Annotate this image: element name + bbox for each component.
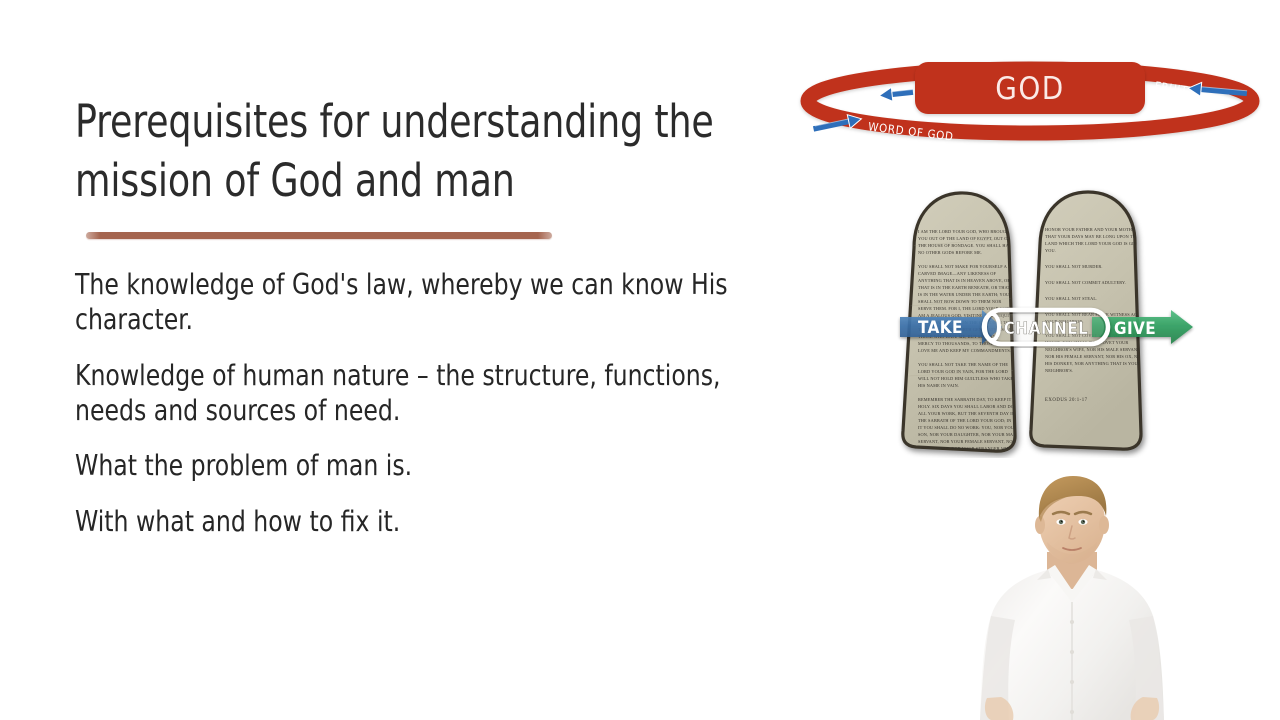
- god-cycle-diagram: GOD LOVE FRUIT WORD OF GOD: [795, 46, 1265, 156]
- svg-text:IS IN THE WATER UNDER THE EART: IS IN THE WATER UNDER THE EARTH; YOU: [918, 292, 1010, 297]
- svg-text:LAND WHICH THE LORD YOUR GOD I: LAND WHICH THE LORD YOUR GOD IS GIVING: [1045, 241, 1145, 246]
- shirt-button: [1070, 650, 1074, 654]
- svg-text:THAT YOUR DAYS MAY BE LONG UPO: THAT YOUR DAYS MAY BE LONG UPON THE: [1045, 234, 1139, 239]
- list-item: With what and how to fix it.: [75, 504, 774, 539]
- take-label: TAKE: [918, 318, 963, 338]
- slide-text-column: Prerequisites for understanding the miss…: [75, 92, 805, 211]
- svg-text:NO OTHER GODS BEFORE ME.: NO OTHER GODS BEFORE ME.: [918, 250, 982, 255]
- svg-text:YOU SHALL NOT TAKE THE NAME OF: YOU SHALL NOT TAKE THE NAME OF THE: [918, 362, 1008, 367]
- god-box-label: GOD: [995, 71, 1065, 107]
- svg-text:HIS NAME IN VAIN.: HIS NAME IN VAIN.: [918, 383, 959, 388]
- svg-text:YOU SHALL NOT COMMIT ADULTERY.: YOU SHALL NOT COMMIT ADULTERY.: [1045, 280, 1126, 285]
- tablet-citation: EXODUS 20:1-17: [1045, 398, 1088, 403]
- svg-text:THE SABBATH OF THE LORD YOUR G: THE SABBATH OF THE LORD YOUR GOD; IN: [918, 418, 1011, 423]
- list-item: What the problem of man is.: [75, 448, 774, 483]
- svg-text:YOU.: YOU.: [1045, 248, 1056, 253]
- svg-text:YOU SHALL NOT MAKE FOR YOURSEL: YOU SHALL NOT MAKE FOR YOURSELF A: [918, 264, 1008, 269]
- page-title: Prerequisites for understanding the miss…: [75, 92, 732, 211]
- svg-text:HOLY. SIX DAYS YOU SHALL LABOR: HOLY. SIX DAYS YOU SHALL LABOR AND DO: [918, 404, 1014, 409]
- title-divider: [86, 232, 552, 239]
- shirt-button: [1070, 710, 1074, 714]
- list-item: Knowledge of human nature – the structur…: [75, 358, 774, 429]
- channel-label: CHANNEL: [1004, 319, 1088, 339]
- shirt-button: [1070, 620, 1074, 624]
- svg-text:YOU SHALL NOT MURDER.: YOU SHALL NOT MURDER.: [1045, 264, 1103, 269]
- svg-text:CARVED IMAGE—ANY LIKENESS OF: CARVED IMAGE—ANY LIKENESS OF: [918, 271, 997, 276]
- love-arrow-icon: [878, 85, 913, 102]
- take-channel-give-bar: TAKE GIVE CHANNEL: [896, 306, 1196, 348]
- svg-text:THE HOUSE OF BONDAGE. YOU SHAL: THE HOUSE OF BONDAGE. YOU SHALL HAVE: [918, 243, 1015, 248]
- list-item: The knowledge of God's law, whereby we c…: [75, 267, 774, 338]
- person-photo: [947, 470, 1197, 720]
- svg-text:LOVE ME AND KEEP MY COMMANDMEN: LOVE ME AND KEEP MY COMMANDMENTS.: [918, 348, 1011, 353]
- svg-text:NEIGHBOR'S.: NEIGHBOR'S.: [1045, 368, 1073, 373]
- shirt-button: [1070, 680, 1074, 684]
- svg-text:WILL NOT HOLD HIM GUILTLESS WH: WILL NOT HOLD HIM GUILTLESS WHO TAKES: [918, 376, 1016, 381]
- bullet-list: The knowledge of God's law, whereby we c…: [75, 267, 835, 559]
- svg-text:SHALL NOT BOW DOWN TO THEM NOR: SHALL NOT BOW DOWN TO THEM NOR: [918, 299, 1001, 304]
- svg-text:YOU SHALL NOT STEAL.: YOU SHALL NOT STEAL.: [1045, 296, 1097, 301]
- give-label: GIVE: [1114, 319, 1156, 339]
- love-label: LOVE: [852, 91, 883, 109]
